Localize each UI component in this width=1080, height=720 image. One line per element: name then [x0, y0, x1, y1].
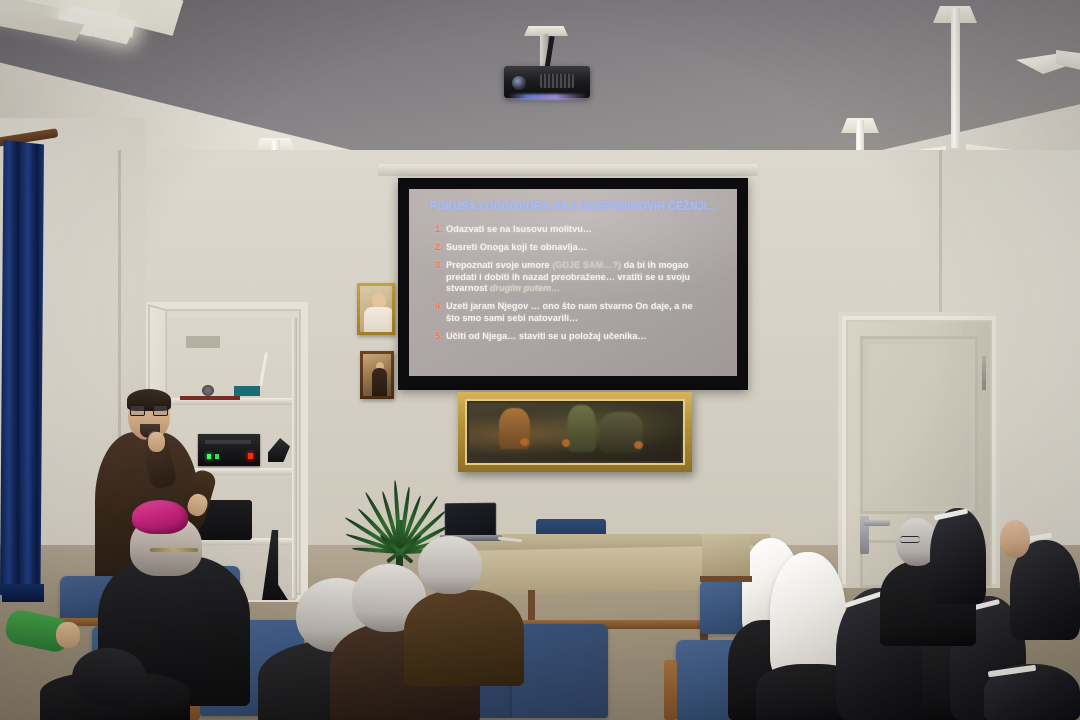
door-hinge	[982, 356, 986, 390]
chair-armrest	[664, 660, 677, 720]
tape-roll	[202, 385, 214, 396]
slide-bullet-text: Odazvati se na Isusovu molitvu…	[446, 224, 592, 234]
shelf-teal-case	[234, 386, 260, 396]
shelf-trim	[180, 396, 240, 400]
slide-bullet-text: Učiti od Njega… staviti se u položaj uče…	[446, 331, 647, 341]
bishop-zucchetto	[132, 500, 188, 534]
bishop-pectoral-chain	[150, 548, 198, 552]
slide-bullet-text: Uzeti jaram Njegov … ono što nam stvarno…	[446, 301, 693, 323]
conference-hall-photo: POKUŠAJ ODGOVORA NA 6 GOSPODINOVIH ČEŽNJ…	[0, 0, 1080, 720]
slide-bullet-list: 1.Odazvati se na Isusovu molitvu…2.Susre…	[435, 224, 737, 343]
slide-bullet-text: drugim putem…	[490, 283, 560, 293]
fluorescent-panel-cluster	[0, 0, 230, 62]
projector-vent	[540, 74, 574, 88]
slide-bullet-text: Susreti Onoga koji te obnavlja…	[446, 242, 587, 252]
nun-face	[1000, 520, 1030, 558]
speaker-glasses-icon	[130, 405, 168, 416]
large-religious-painting	[458, 392, 692, 472]
projector-light-glow	[508, 94, 588, 100]
projection-screen: POKUŠAJ ODGOVORA NA 6 GOSPODINOVIH ČEŽNJ…	[398, 178, 748, 390]
lectern-base	[700, 576, 752, 582]
audience-person-head	[72, 648, 146, 706]
lectern	[702, 534, 750, 578]
slide-bullet-number: 2.	[435, 242, 443, 254]
slide-surface: POKUŠAJ ODGOVORA NA 6 GOSPODINOVIH ČEŽNJ…	[409, 189, 737, 376]
cabinet-edge	[292, 318, 297, 598]
window-curtain	[0, 140, 44, 595]
slide-bullet-number: 3.	[435, 260, 443, 272]
audio-amplifier	[198, 434, 260, 466]
projector-lens-icon	[512, 76, 526, 90]
slide-bullet-item: 2.Susreti Onoga koji te obnavlja…	[435, 242, 703, 254]
shelf-box	[186, 336, 220, 348]
nun-black-veil	[930, 508, 986, 604]
curtain-hem	[2, 584, 44, 602]
slide-bullet-number: 1.	[435, 224, 443, 236]
slide-bullet-text: (GDJE SAM…?)	[552, 260, 621, 270]
slide-bullet-number: 5.	[435, 331, 443, 343]
pendant-lamp-icon	[1016, 46, 1080, 96]
door-handle[interactable]	[864, 520, 890, 526]
slide-bullet-item: 3.Prepoznati svoje umore (GDJE SAM…?) da…	[435, 260, 703, 295]
chair[interactable]	[512, 624, 608, 718]
screen-roller-housing	[378, 164, 758, 176]
friar-head	[418, 536, 482, 594]
laptop-screen	[445, 503, 497, 538]
priest-glasses-icon	[900, 536, 920, 543]
slide-bullet-item: 5.Učiti od Njega… staviti se u položaj u…	[435, 331, 703, 343]
slide-bullet-item: 4.Uzeti jaram Njegov … ono što nam stvar…	[435, 301, 703, 324]
slide-title: POKUŠAJ ODGOVORA NA 6 GOSPODINOVIH ČEŽNJ…	[422, 201, 724, 213]
door-panel-inset-top	[860, 336, 978, 514]
slide-bullet-text: Prepoznati svoje umore	[446, 260, 552, 270]
nun-white-veil	[770, 552, 846, 680]
saint-portrait	[360, 351, 394, 399]
pope-portrait	[357, 283, 395, 335]
slide-bullet-item: 1.Odazvati se na Isusovu molitvu…	[435, 224, 703, 236]
slide-bullet-number: 4.	[435, 301, 443, 313]
audience-hand	[56, 622, 80, 648]
speaker-mic-hand	[148, 432, 165, 452]
friar-body	[404, 590, 524, 686]
